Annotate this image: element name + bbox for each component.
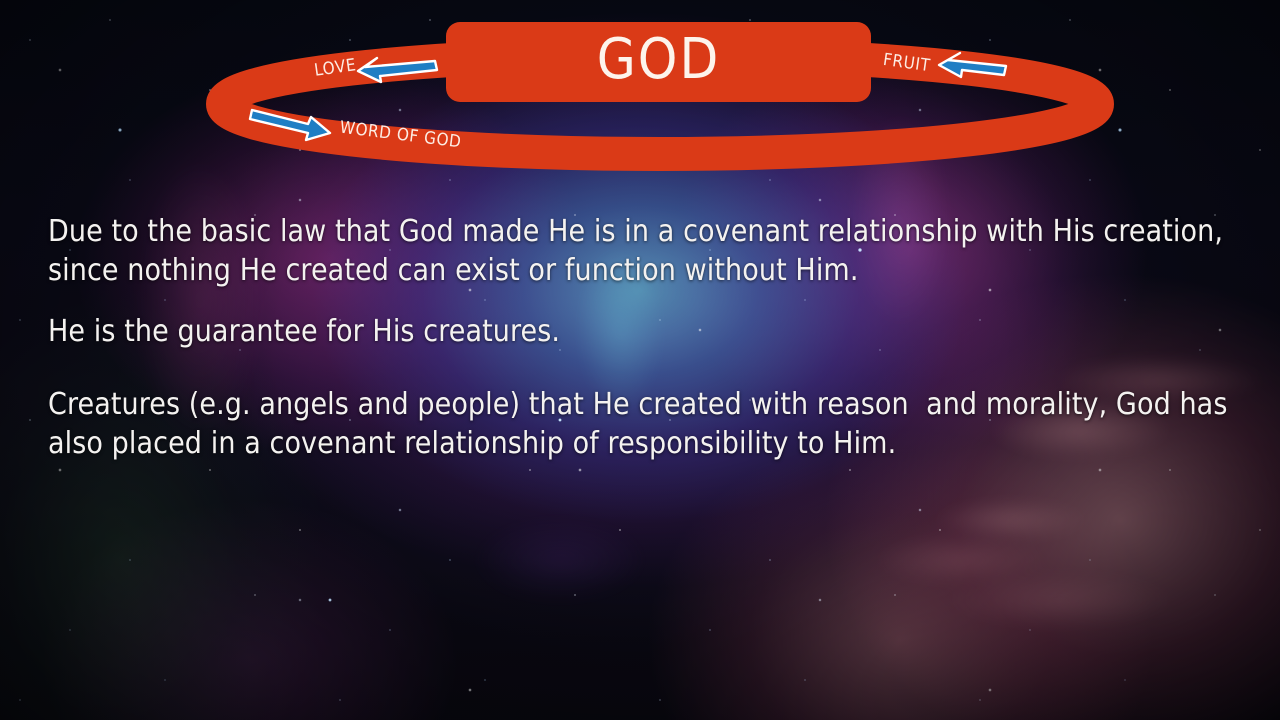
body-text-block: Due to the basic law that God made He is… (48, 212, 1243, 463)
body-paragraph-3: Creatures (e.g. angels and people) that … (48, 385, 1243, 463)
body-paragraph-1: Due to the basic law that God made He is… (48, 212, 1243, 290)
god-box: GOD (446, 22, 871, 102)
covenant-cycle-diagram: LOVE WORD OF GOD FRUIT (0, 0, 1280, 180)
god-box-label: GOD (446, 22, 871, 102)
body-paragraph-2: He is the guarantee for His creatures. (48, 312, 1243, 351)
slide-canvas: LOVE WORD OF GOD FRUIT (0, 0, 1280, 720)
